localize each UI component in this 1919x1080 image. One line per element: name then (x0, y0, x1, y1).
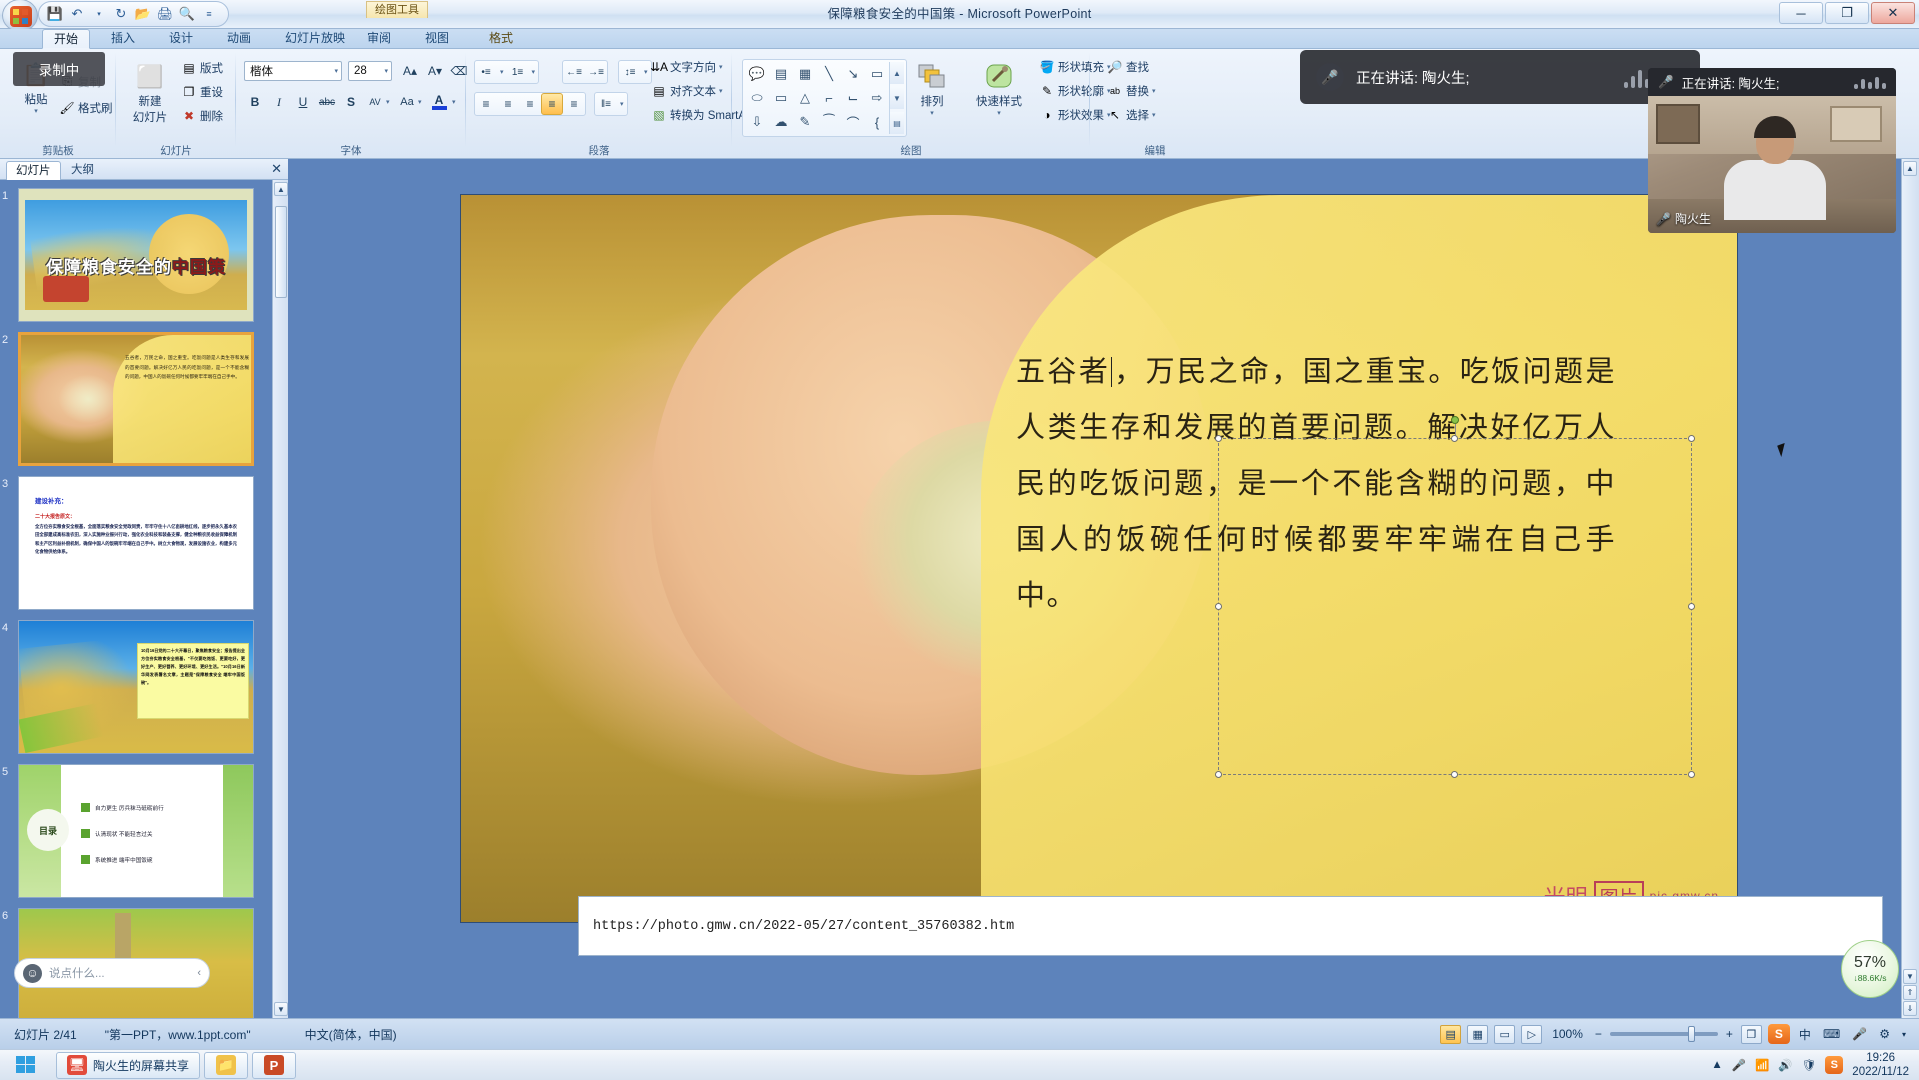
tab-view[interactable]: 视图 (414, 29, 460, 49)
view-slideshow-button[interactable]: ▷ (1521, 1025, 1542, 1044)
video-name-mic-icon: 🎤 (1656, 212, 1671, 226)
shrink-font-button[interactable]: A▾ (424, 60, 446, 82)
increase-indent-button[interactable]: →≡ (585, 61, 607, 83)
font-family-caret-icon[interactable]: ▾ (334, 67, 338, 75)
thumb-canvas-4: 10月16日党的二十大开幕日，聚焦粮食安全；报告提出全方位夯实粮食安全根基，"不… (18, 620, 254, 754)
slide-text-before-caret: 五谷者 (1016, 356, 1110, 388)
text-direction-button[interactable]: ⇊A 文字方向 ▾ (648, 56, 726, 77)
ime-mic-icon[interactable]: 🎤 (1849, 1027, 1870, 1041)
thumbnail-slide-1[interactable]: 1 保障粮食安全的中国策 (18, 188, 254, 322)
thumb3-subheading: 二十大报告原文： (35, 513, 75, 520)
tab-review[interactable]: 审阅 (356, 29, 402, 49)
shapes-scroll-down-icon[interactable]: ▼ (890, 87, 904, 109)
text-placeholder-selection-frame[interactable] (1218, 438, 1692, 775)
thumb-canvas-2: 五谷者，万民之命，国之重宝。吃饭问题是人类生存和发展的首要问题。解决好亿万人民的… (18, 332, 254, 466)
recording-tooltip-label: 录制中 (39, 59, 80, 79)
quick-styles-icon (983, 61, 1015, 93)
bullets-caret-icon[interactable]: ▾ (497, 68, 507, 76)
slide-thumbnail-panel: 幻灯片 大纲 ✕ 1 保障粮食安全的中国策 (0, 159, 288, 1018)
window-title: 保障粮食安全的中国策 - Microsoft PowerPoint (0, 3, 1919, 22)
case-caret-icon[interactable]: ▾ (418, 98, 422, 106)
change-case-button[interactable]: Aa (396, 91, 418, 113)
align-center-button[interactable]: ≡ (497, 93, 519, 115)
slide-number-6: 6 (2, 910, 8, 922)
smartart-icon: ▧ (651, 107, 667, 123)
tray-meeting-icon[interactable]: S (1825, 1056, 1843, 1074)
tray-mic-icon[interactable]: 🎤 (1732, 1058, 1746, 1072)
slide-number-1: 1 (2, 190, 8, 202)
url-text-box[interactable]: https://photo.gmw.cn/2022-05/27/content_… (578, 896, 1883, 956)
slide-number-2: 2 (2, 334, 8, 346)
tray-shield-icon[interactable]: 🛡 (1802, 1058, 1817, 1072)
ribbon-group-font: 楷体 ▾ 28 ▾ A▴ A▾ ⌫ B I U abc S AV ▾ Aa ▾ … (236, 49, 466, 159)
stage-next-slide-icon[interactable]: ⇓ (1903, 1001, 1917, 1016)
shape-cloud-icon[interactable]: ☁ (769, 110, 793, 134)
shapes-scrollbar[interactable]: ▲ ▼ ▤ (889, 62, 904, 134)
panel-scroll-down-icon[interactable]: ▼ (274, 1002, 288, 1016)
ribbon-group-drawing: 💬 ▤ ▦ ╲ ↘ ▭ ⬭ ▭ △ ⌐ ⌙ ⇨ ⇩ ☁ ✎ ⁀ ⌒ (732, 49, 1090, 159)
replace-button[interactable]: ab 替换 ▾ (1104, 80, 1159, 101)
align-left-button[interactable]: ≡ (475, 93, 497, 115)
replace-icon: ab (1107, 83, 1123, 99)
chat-collapse-icon[interactable]: ‹ (197, 967, 201, 979)
tab-slides-thumbnails[interactable]: 幻灯片 (6, 161, 61, 180)
quick-styles-button[interactable]: 快速样式 ▾ (966, 61, 1032, 117)
align-right-button[interactable]: ≡ (519, 93, 541, 115)
arrange-button[interactable]: 排列 ▾ (904, 61, 960, 117)
format-painter-button[interactable]: 🖌 格式刷 (56, 97, 116, 118)
screen-share-icon: 🖥 (67, 1055, 87, 1075)
thumb3-heading: 建设补充： (35, 495, 68, 505)
group-label-drawing: 绘图 (732, 143, 1090, 158)
delete-slide-button[interactable]: ✖ 删除 (178, 105, 226, 126)
shape-scribble-icon[interactable]: ✎ (793, 110, 817, 134)
meeting-chat-input[interactable]: ☺ 说点什么... ‹ (14, 958, 210, 988)
layout-label: 版式 (200, 60, 223, 76)
character-spacing-button[interactable]: AV (364, 91, 386, 113)
thumb4-body: 10月16日党的二十大开幕日，聚焦粮食安全；报告提出全方位夯实粮食安全根基，"不… (141, 647, 245, 687)
view-normal-button[interactable]: ▤ (1440, 1025, 1461, 1044)
thumb3-body: 全方位夯实粮食安全根基，全面落实粮食安全党政同责，牢牢守住十八亿亩耕地红线，逐步… (35, 523, 237, 556)
resize-handle-ne[interactable] (1688, 435, 1695, 442)
shape-textbox-icon[interactable]: ▤ (769, 62, 793, 86)
tab-slideshow[interactable]: 幻灯片放映 (274, 29, 356, 49)
zoom-slider-knob[interactable] (1688, 1026, 1695, 1042)
close-panel-icon[interactable]: ✕ (271, 161, 282, 177)
text-direction-icon: ⇊A (651, 59, 667, 75)
align-text-button[interactable]: ▤ 对齐文本 ▾ (648, 80, 726, 101)
arrange-caret-icon[interactable]: ▾ (930, 109, 934, 117)
resize-handle-se[interactable] (1688, 771, 1695, 778)
text-direction-caret-icon[interactable]: ▾ (719, 63, 723, 71)
spacing-caret-icon[interactable]: ▾ (386, 98, 390, 106)
resize-handle-sw[interactable] (1215, 771, 1222, 778)
shape-callout-icon[interactable]: 💬 (745, 62, 769, 86)
tab-home[interactable]: 开始 (42, 29, 90, 49)
video-panel-header: 🎤 正在讲话: 陶火生; (1648, 68, 1896, 96)
shape-line-icon[interactable]: ╲ (817, 62, 841, 86)
powerpoint-window: 💾 ↶ ▾ ↻ 📂 🖨 🔍 ≡ 绘图工具 保障粮食安全的中国策 - Micros… (0, 0, 1919, 1080)
zoom-slider[interactable] (1610, 1032, 1718, 1036)
text-shadow-button[interactable]: S (340, 91, 362, 113)
group-label-slides: 幻灯片 (116, 143, 236, 158)
layout-button[interactable]: ▤ 版式 (178, 57, 229, 78)
group-label-font: 字体 (236, 143, 466, 158)
video-header-mic-icon: 🎤 (1658, 75, 1674, 90)
shape-elbow-icon[interactable]: ⌐ (817, 86, 841, 110)
panel-tabs: 幻灯片 大纲 ✕ (0, 159, 288, 180)
tab-animation[interactable]: 动画 (216, 29, 262, 49)
underline-button[interactable]: U (292, 91, 314, 113)
clock-time: 19:26 (1852, 1051, 1909, 1065)
grow-font-button[interactable]: A▴ (398, 60, 422, 82)
resize-handle-n[interactable] (1451, 435, 1458, 442)
decrease-indent-button[interactable]: ←≡ (563, 61, 585, 83)
clock-date: 2022/11/12 (1852, 1065, 1909, 1079)
toast-mic-icon: 🎤 (1316, 63, 1344, 91)
ime-keyboard-icon[interactable]: ⌨ (1820, 1027, 1843, 1041)
ime-language-icon[interactable]: 中 (1796, 1026, 1814, 1043)
system-tray: ▲ 🎤 📶 🔊 🛡 S 19:26 2022/11/12 (1711, 1051, 1919, 1080)
shape-outline-icon: ✎ (1039, 83, 1055, 99)
columns-button[interactable]: ‖≡ (595, 93, 617, 115)
justify-button[interactable]: ≡ (541, 93, 563, 115)
delete-icon: ✖ (181, 108, 197, 124)
select-caret-icon[interactable]: ▾ (1152, 111, 1156, 119)
slide-number-3: 3 (2, 478, 8, 490)
meeting-video-panel[interactable]: 🎤 正在讲话: 陶火生; 🎤 陶火生 (1648, 68, 1896, 233)
language-indicator[interactable]: 中文(简体，中国) (265, 1026, 411, 1043)
new-slide-label: 新建 (139, 93, 162, 109)
thumbnail-list[interactable]: 1 保障粮食安全的中国策 2 (0, 180, 272, 1018)
thumb-canvas-5: 目录 自力更生 厉兵秣马砥砺前行 认清现状 不能轻言过关 系统推进 端牢中国饭碗 (18, 764, 254, 898)
taskbar-share-label: 陶火生的屏幕共享 (93, 1057, 189, 1074)
zoom-percent[interactable]: 100% (1548, 1027, 1587, 1041)
paste-caret-icon[interactable]: ▾ (34, 107, 38, 115)
thumb5-toc-label: 目录 (27, 809, 69, 851)
new-slide-icon: ⬜ (134, 61, 166, 93)
stage-scroll-up-icon[interactable]: ▲ (1903, 161, 1917, 176)
rotate-handle[interactable] (1451, 416, 1459, 424)
ribbon-group-slides: ⬜ 新建 幻灯片 ▤ 版式 ❐ 重设 ✖ 删除 幻灯片 (116, 49, 236, 159)
font-color-caret-icon[interactable]: ▾ (452, 98, 456, 106)
close-button[interactable]: ✕ (1871, 2, 1915, 24)
windows-logo-icon (15, 1054, 37, 1076)
title-bar: 💾 ↶ ▾ ↻ 📂 🖨 🔍 ≡ 绘图工具 保障粮食安全的中国策 - Micros… (0, 0, 1919, 29)
ime-logo-icon[interactable]: S (1768, 1024, 1790, 1044)
view-sorter-button[interactable]: ▦ (1467, 1025, 1488, 1044)
shape-arc-icon[interactable]: ⌒ (841, 110, 865, 134)
windows-taskbar: 🖥 陶火生的屏幕共享 📁 P ▲ 🎤 📶 🔊 🛡 S 19:26 2022/11… (0, 1049, 1919, 1080)
thumb5-item-2: 认清现状 不能轻言过关 (95, 830, 153, 838)
status-right-cluster: ▤ ▦ ▭ ▷ 100% − + ❐ S 中 ⌨ 🎤 ⚙ ▾ (1440, 1024, 1919, 1044)
tray-volume-icon[interactable]: 🔊 (1778, 1058, 1792, 1072)
folder-icon: 📁 (216, 1055, 236, 1075)
fit-to-window-button[interactable]: ❐ (1741, 1025, 1762, 1044)
resize-handle-w[interactable] (1215, 603, 1222, 610)
shape-arrow-icon[interactable]: ↘ (841, 62, 865, 86)
thumbnail-slide-2[interactable]: 2 五谷者，万民之命，国之重宝。吃饭问题是人类生存和发展的首要问题。解决好亿万人… (18, 332, 254, 466)
thumbnail-slide-3[interactable]: 3 建设补充： 二十大报告原文： 全方位夯实粮食安全根基，全面落实粮食安全党政同… (18, 476, 254, 610)
shape-downarrow-icon[interactable]: ⇩ (745, 110, 769, 134)
numbering-caret-icon[interactable]: ▾ (529, 68, 539, 76)
ime-tool-icon[interactable]: ⚙ (1876, 1027, 1893, 1041)
shapes-scroll-up-icon[interactable]: ▲ (890, 62, 904, 84)
shape-triangle-icon[interactable]: △ (793, 86, 817, 110)
find-icon: 🔎 (1107, 59, 1123, 75)
font-size-caret-icon[interactable]: ▾ (384, 67, 388, 75)
minimize-button[interactable]: ─ (1779, 2, 1823, 24)
taskbar-explorer-item[interactable]: 📁 (204, 1052, 248, 1079)
thumb-canvas-1: 保障粮食安全的中国策 (18, 188, 254, 322)
thumb2-text: 五谷者，万民之命，国之重宝。吃饭问题是人类生存和发展的首要问题。解决好亿万人民的… (125, 353, 249, 382)
find-button[interactable]: 🔎 查找 (1104, 56, 1152, 77)
maximize-button[interactable]: ❐ (1825, 2, 1869, 24)
ribbon-group-paragraph: •≡ ▾ 1≡ ▾ ←≡ →≡ ↕≡ ▾ ≡ ≡ ≡ ≡ ≡ ‖≡ (466, 49, 732, 159)
slide-counter[interactable]: 幻灯片 2/41 (0, 1026, 91, 1043)
slide-number-4: 4 (2, 622, 8, 634)
replace-caret-icon[interactable]: ▾ (1152, 87, 1156, 95)
window-controls: ─ ❐ ✕ (1779, 2, 1915, 24)
panel-scroll-up-icon[interactable]: ▲ (274, 182, 288, 196)
shape-fill-icon: 🪣 (1039, 59, 1055, 75)
panel-scrollbar[interactable]: ▲ ▼ (272, 180, 288, 1018)
group-label-editing: 编辑 (1090, 143, 1220, 158)
shape-elbow2-icon[interactable]: ⌙ (841, 86, 865, 110)
video-participant-name: 🎤 陶火生 (1656, 210, 1711, 227)
zoom-in-button[interactable]: + (1724, 1027, 1735, 1041)
chat-placeholder: 说点什么... (49, 965, 105, 981)
shape-oval-icon[interactable]: ⬭ (745, 86, 769, 110)
resize-handle-s[interactable] (1451, 771, 1458, 778)
format-painter-icon: 🖌 (59, 100, 75, 116)
emoji-icon[interactable]: ☺ (23, 964, 42, 983)
reset-icon: ❐ (181, 84, 197, 100)
speaking-toast[interactable]: 🎤 正在讲话: 陶火生; (1300, 50, 1700, 104)
replace-label: 替换 (1126, 83, 1149, 99)
font-family-value: 楷体 (250, 63, 273, 79)
font-color-icon: A (435, 95, 444, 106)
panel-scroll-thumb[interactable] (275, 206, 287, 298)
arrange-label: 排列 (921, 93, 944, 109)
font-color-button[interactable]: A (428, 91, 450, 113)
taskbar-clock[interactable]: 19:26 2022/11/12 (1852, 1051, 1909, 1080)
ime-more-icon[interactable]: ▾ (1899, 1030, 1909, 1039)
strikethrough-button[interactable]: abc (316, 91, 338, 113)
shape-vtextbox-icon[interactable]: ▦ (793, 62, 817, 86)
theme-name[interactable]: "第一PPT，www.1ppt.com" (91, 1026, 265, 1043)
shape-roundrect-icon[interactable]: ▭ (769, 86, 793, 110)
ribbon-tab-strip: 开始 插入 设计 动画 幻灯片放映 审阅 视图 格式 (0, 29, 1919, 49)
tab-outline[interactable]: 大纲 (62, 161, 103, 180)
slide-editing-stage: 五谷者，万民之命，国之重宝。吃饭问题是人类生存和发展的首要问题。解决好亿万人民的… (288, 159, 1901, 1018)
thumb-canvas-3: 建设补充： 二十大报告原文： 全方位夯实粮食安全根基，全面落实粮食安全党政同责，… (18, 476, 254, 610)
reset-button[interactable]: ❐ 重设 (178, 81, 226, 102)
zoom-out-button[interactable]: − (1593, 1027, 1604, 1041)
shape-brace-icon[interactable]: { (865, 110, 889, 134)
quick-styles-caret-icon[interactable]: ▾ (997, 109, 1001, 117)
video-header-label: 正在讲话: 陶火生; (1682, 73, 1780, 92)
stage-scroll-down-icon[interactable]: ▼ (1903, 969, 1917, 984)
font-size-value: 28 (354, 65, 367, 77)
slide-number-5: 5 (2, 766, 8, 778)
align-text-icon: ▤ (651, 83, 667, 99)
thumb5-item-3: 系统推进 端牢中国饭碗 (95, 856, 153, 864)
delete-label: 删除 (200, 108, 223, 124)
start-button[interactable] (0, 1050, 52, 1080)
find-label: 查找 (1126, 59, 1149, 75)
paste-label: 粘贴 (25, 91, 48, 107)
line-spacing-button[interactable]: ↕≡ (619, 61, 641, 83)
view-reading-button[interactable]: ▭ (1494, 1025, 1515, 1044)
group-label-paragraph: 段落 (466, 143, 732, 158)
format-painter-label: 格式刷 (78, 100, 113, 116)
columns-caret-icon[interactable]: ▾ (617, 100, 627, 108)
powerpoint-icon: P (264, 1055, 284, 1075)
video-feed: 🎤 陶火生 (1648, 96, 1896, 233)
new-slide-label2: 幻灯片 (133, 109, 168, 125)
speed-percent: 57% (1854, 955, 1886, 971)
font-size-combo[interactable]: 28 ▾ (348, 61, 392, 81)
stage-vertical-scrollbar[interactable]: ▲ ▼ ⇑ ⇓ (1901, 159, 1919, 1018)
layout-icon: ▤ (181, 60, 197, 76)
select-icon: ↖ (1107, 107, 1123, 123)
quick-styles-label: 快速样式 (976, 93, 1022, 109)
italic-button[interactable]: I (268, 91, 290, 113)
shape-effects-icon: ◑ (1039, 107, 1055, 123)
tab-format[interactable]: 格式 (478, 29, 524, 49)
select-button[interactable]: ↖ 选择 ▾ (1104, 104, 1159, 125)
group-label-clipboard: 剪贴板 (0, 143, 116, 158)
url-value: https://photo.gmw.cn/2022-05/27/content_… (593, 919, 1014, 934)
resize-handle-nw[interactable] (1215, 435, 1222, 442)
thumb5-item-1: 自力更生 厉兵秣马砥砺前行 (95, 804, 164, 812)
font-family-combo[interactable]: 楷体 ▾ (244, 61, 342, 81)
taskbar-screen-share-item[interactable]: 🖥 陶火生的屏幕共享 (56, 1052, 200, 1079)
video-waveform-icon (1854, 75, 1886, 89)
new-slide-button[interactable]: ⬜ 新建 幻灯片 (122, 61, 178, 125)
shapes-more-icon[interactable]: ▤ (890, 112, 904, 134)
bold-button[interactable]: B (244, 91, 266, 113)
shapes-gallery[interactable]: 💬 ▤ ▦ ╲ ↘ ▭ ⬭ ▭ △ ⌐ ⌙ ⇨ ⇩ ☁ ✎ ⁀ ⌒ (745, 62, 889, 134)
arrange-icon (916, 61, 948, 93)
thumbnail-slide-5[interactable]: 5 目录 自力更生 厉兵秣马砥砺前行 认清现状 不能轻言过关 (18, 764, 254, 898)
thumb1-title-accent: 中国策 (172, 258, 226, 277)
align-text-label: 对齐文本 (670, 83, 716, 99)
stage-prev-slide-icon[interactable]: ⇑ (1903, 985, 1917, 1000)
tray-expand-icon[interactable]: ▲ (1711, 1059, 1722, 1071)
toast-speaking-label: 正在讲话: 陶火生; (1356, 67, 1470, 88)
thumb1-title: 保障粮食安全的 (46, 258, 172, 277)
status-bar: 幻灯片 2/41 "第一PPT，www.1ppt.com" 中文(简体，中国) … (0, 1018, 1919, 1049)
distribute-button[interactable]: ≡ (563, 93, 585, 115)
ribbon-group-editing: 🔎 查找 ab 替换 ▾ ↖ 选择 ▾ 编辑 (1090, 49, 1220, 159)
video-name-label: 陶火生 (1675, 210, 1711, 227)
shape-rightarrow-icon[interactable]: ⇨ (865, 86, 889, 110)
thumbnail-slide-4[interactable]: 4 10月16日党的二十大开幕日，聚焦粮食安全；报告提出全方位夯实粮食安全根基，… (18, 620, 254, 754)
recording-tooltip: 录制中 (13, 52, 105, 86)
numbering-button[interactable]: 1≡ (507, 61, 529, 83)
tab-insert[interactable]: 插入 (100, 29, 146, 49)
taskbar-powerpoint-item[interactable]: P (252, 1052, 296, 1079)
resize-handle-e[interactable] (1688, 603, 1695, 610)
network-speed-badge: 57% ↓88.6K/s (1841, 940, 1899, 998)
tab-design[interactable]: 设计 (158, 29, 204, 49)
bullets-button[interactable]: •≡ (475, 61, 497, 83)
reset-label: 重设 (200, 84, 223, 100)
align-text-caret-icon[interactable]: ▾ (719, 87, 723, 95)
shape-curve-icon[interactable]: ⁀ (817, 110, 841, 134)
tray-network-icon[interactable]: 📶 (1755, 1058, 1769, 1072)
speed-rate: ↓88.6K/s (1853, 974, 1886, 983)
text-direction-label: 文字方向 (670, 59, 716, 75)
select-label: 选择 (1126, 107, 1149, 123)
shape-rect-icon[interactable]: ▭ (865, 62, 889, 86)
